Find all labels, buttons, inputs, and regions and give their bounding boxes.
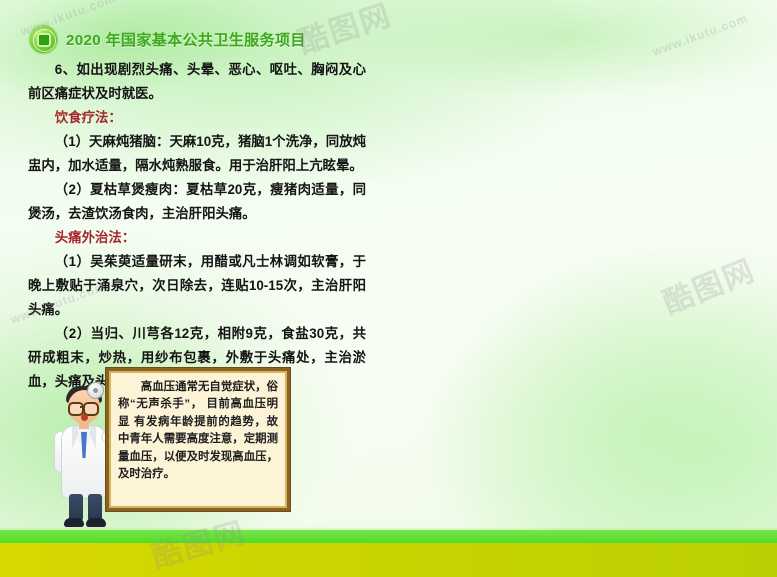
- left-panel: 2020 年国家基本公共卫生服务项目 6、如出现剧烈头痛、头晕、恶心、呕吐、胸闷…: [0, 0, 390, 577]
- paragraph: （1）吴茱萸适量研末，用醋或凡士林调如软膏，于晚上敷贴于涌泉穴，次日除去，连贴1…: [28, 250, 366, 322]
- right-panel: 2020 年国家基本公共卫生服务项目 高血压中医保健: [390, 0, 777, 577]
- poster-canvas: 2020 年国家基本公共卫生服务项目 6、如出现剧烈头痛、头晕、恶心、呕吐、胸闷…: [0, 0, 777, 577]
- header-title: 2020 年国家基本公共卫生服务项目: [66, 29, 306, 50]
- section-heading: 饮食疗法：: [28, 106, 366, 130]
- paragraph: 6、如出现剧烈头痛、头晕、恶心、呕吐、胸闷及心前区痛症状及时就医。: [28, 58, 366, 106]
- paragraph: （1）天麻炖猪脑：天麻10克，猪脑1个洗净，同放炖盅内，加水适量，隔水炖熟服食。…: [28, 130, 366, 178]
- left-body-copy: 6、如出现剧烈头痛、头晕、恶心、呕吐、胸闷及心前区痛症状及时就医。 饮食疗法： …: [28, 58, 366, 394]
- paragraph: （2）夏枯草煲瘦肉：夏枯草20克，瘦猪肉适量，同煲汤，去渣饮汤食肉，主治肝阳头痛…: [28, 178, 366, 226]
- bottom-yellow-band: [0, 543, 777, 577]
- callout-text: 高血压通常无自觉症状，俗称“无声杀手”， 目前高血压明显 有发病年龄提前的趋势，…: [118, 379, 278, 483]
- green-circle-emblem-icon: [30, 26, 57, 53]
- header-left: 2020 年国家基本公共卫生服务项目: [30, 26, 306, 53]
- callout-box: 高血压通常无自觉症状，俗称“无声杀手”， 目前高血压明显 有发病年龄提前的趋势，…: [106, 368, 290, 511]
- section-heading: 头痛外治法：: [28, 226, 366, 250]
